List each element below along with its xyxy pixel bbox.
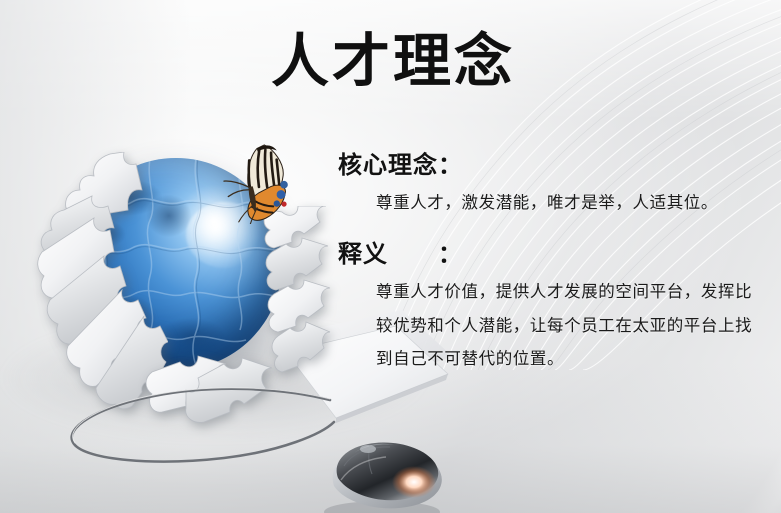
core-philosophy-body: 尊重人才，激发潜能，唯才是举，人适其位。 bbox=[338, 187, 768, 219]
explanation-heading: 释义 ： bbox=[338, 241, 768, 270]
slide-canvas: 人才理念 bbox=[0, 0, 781, 513]
hero-illustration bbox=[8, 132, 358, 462]
explanation-body: 尊重人才价值，提供人才发展的空间平台，发挥比较优势和个人潜能，让每个员工在太亚的… bbox=[338, 276, 768, 377]
content-text-block: 核心理念： 尊重人才，激发潜能，唯才是举，人适其位。 释义 ： 尊重人才价值，提… bbox=[338, 152, 768, 391]
core-philosophy-heading: 核心理念： bbox=[338, 152, 768, 181]
computer-mouse bbox=[308, 420, 458, 513]
section-explanation: 释义 ： 尊重人才价值，提供人才发展的空间平台，发挥比较优势和个人潜能，让每个员… bbox=[338, 241, 768, 377]
section-core-philosophy: 核心理念： 尊重人才，激发潜能，唯才是举，人适其位。 bbox=[338, 152, 768, 219]
butterfly bbox=[220, 140, 306, 224]
slide-title: 人才理念 bbox=[268, 28, 518, 95]
